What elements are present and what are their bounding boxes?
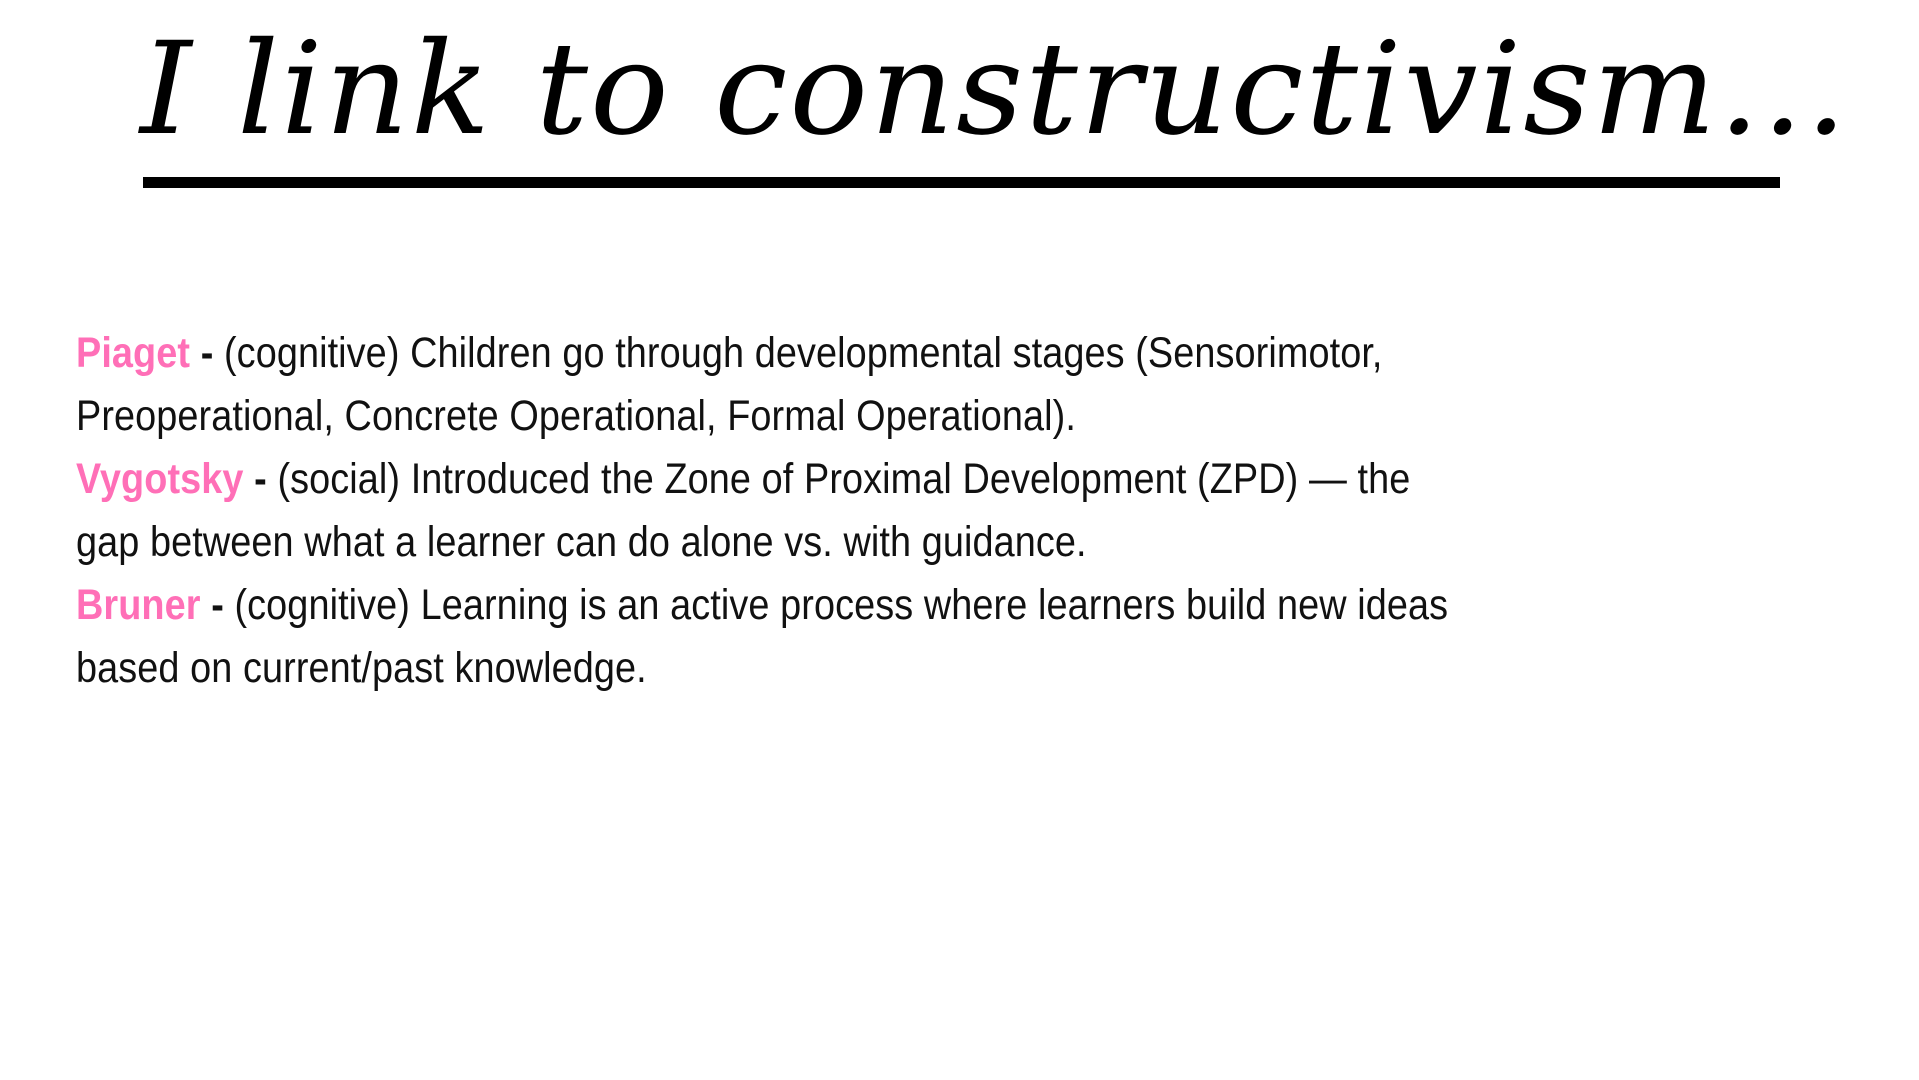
body-text: (cognitive) Children go through developm… (224, 329, 1383, 377)
term-separator: - (254, 455, 267, 503)
body-line: gap between what a learner can do alone … (76, 511, 1660, 574)
body-line: based on current/past knowledge. (76, 637, 1660, 700)
page-title: I link to constructivism... (140, 8, 1823, 172)
term-bruner: Bruner (76, 581, 201, 629)
term-piaget: Piaget (76, 329, 190, 377)
body-line: Preoperational, Concrete Operational, Fo… (76, 385, 1660, 448)
term-vygotsky: Vygotsky (76, 455, 244, 503)
title-underline-rule (143, 177, 1780, 188)
body-text: (cognitive) Learning is an active proces… (234, 581, 1448, 629)
body-line: Vygotsky - (social) Introduced the Zone … (76, 448, 1660, 511)
body-line: Piaget - (cognitive) Children go through… (76, 322, 1660, 385)
body-text: (social) Introduced the Zone of Proximal… (277, 455, 1410, 503)
term-separator: - (211, 581, 224, 629)
body-text: Preoperational, Concrete Operational, Fo… (76, 392, 1076, 440)
slide-title-block: I link to constructivism... (0, 8, 1919, 188)
slide-canvas: I link to constructivism... Piaget - (co… (0, 0, 1919, 1080)
body-text: based on current/past knowledge. (76, 644, 647, 692)
body-line: Bruner - (cognitive) Learning is an acti… (76, 574, 1660, 637)
term-separator: - (201, 329, 214, 377)
body-text: gap between what a learner can do alone … (76, 518, 1087, 566)
slide-body-block: Piaget - (cognitive) Children go through… (76, 322, 1876, 700)
